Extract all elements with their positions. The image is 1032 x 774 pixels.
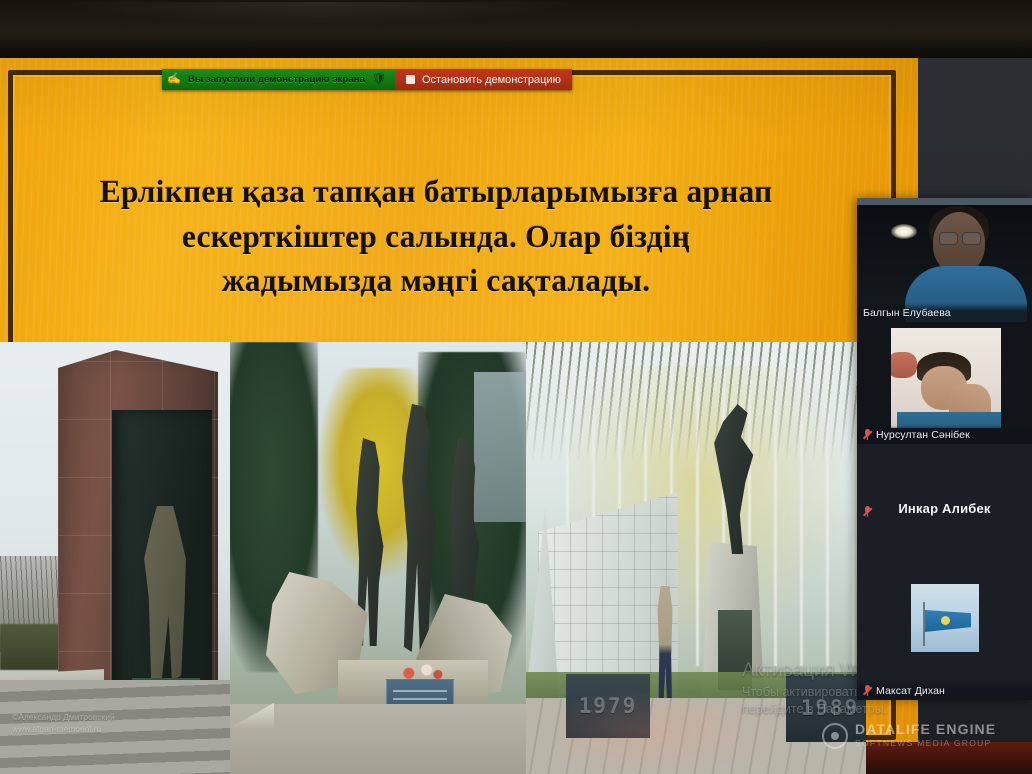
participant-name-bar-2: Нурсултан Сәнібек (857, 425, 1032, 444)
dle-tagline: SOFTNEWS MEDIA GROUP (855, 737, 996, 750)
glasses-icon (939, 232, 981, 243)
tile2-video (891, 328, 1001, 428)
mic-muted-icon (863, 429, 872, 441)
photo3-stele-left: 1979 (566, 674, 650, 738)
slide-photo-strip: ©Александр Дмитровский www.afgan-memoria… (0, 342, 866, 774)
photo1-credit-line-1: ©Александр Дмитровский (12, 711, 230, 724)
dle-text: DATALIFE ENGINE SOFTNEWS MEDIA GROUP (855, 722, 996, 749)
tile2-background-hand (891, 352, 917, 378)
photo-soldier-statue-in-granite-arch: ©Александр Дмитровский www.afgan-memoria… (0, 342, 230, 774)
screenshot-root: Ерлікпен қаза тапқан батырларымызға арна… (0, 0, 1032, 774)
participant-tile-1[interactable]: Балгын Елубаева (857, 198, 1032, 322)
tile1-top-strip (857, 198, 1032, 205)
participants-panel: Балгын Елубаева Нурсултан Сәнібек Инкар … (857, 198, 1032, 700)
shield-icon[interactable]: 🛡 (373, 73, 385, 86)
stop-sharing-label: Остановить демонстрацию (422, 74, 561, 86)
participant-name-3: Инкар Алибек (898, 501, 990, 516)
tile1-ceiling-lamp (891, 224, 917, 239)
participant-tile-4[interactable]: Максат Дихан (857, 572, 1032, 700)
participant-name-bar-4: Максат Дихан (857, 681, 1032, 700)
photo-three-bronze-soldiers-monument (230, 342, 526, 774)
participant-tile-2[interactable]: Нурсултан Сәнібек (857, 322, 1032, 444)
photo1-credit-line-2: www.afgan-memorial.ru (12, 723, 230, 736)
participant-name-4: Максат Дихан (876, 685, 945, 697)
slide-heading-line-3: жадымызда мәңгі сақталады. (26, 259, 846, 304)
photo2-pavement (230, 704, 526, 774)
screen-share-icon: ✍ (168, 73, 180, 86)
stop-square-icon (406, 75, 415, 84)
slide-heading-line-1: Ерлікпен қаза тапқан батырларымызға арна… (26, 170, 846, 215)
screen-share-toolbar[interactable]: ✍ Вы запустили демонстрацию экрана 🛡 Ост… (162, 69, 572, 90)
flag-pole-icon (923, 602, 925, 646)
flag-sun-icon (941, 616, 950, 625)
share-status-chip[interactable]: ✍ Вы запустили демонстрацию экрана 🛡 (162, 69, 395, 90)
mic-muted-icon (863, 685, 872, 697)
participant-tile-3[interactable]: Инкар Алибек (857, 444, 1032, 572)
kazakhstan-flag-avatar (911, 584, 979, 652)
dle-ring-icon (822, 723, 848, 749)
share-status-label: Вы запустили демонстрацию экрана (188, 74, 365, 85)
participant-name-1: Балгын Елубаева (863, 307, 951, 319)
photo3-willow-branches (526, 342, 866, 462)
slide-heading-line-2: ескерткіштер салында. Олар біздің (26, 215, 846, 260)
datalife-engine-watermark: DATALIFE ENGINE SOFTNEWS MEDIA GROUP (822, 722, 996, 749)
monitor-bezel-top (0, 0, 1032, 58)
photo1-credit: ©Александр Дмитровский www.afgan-memoria… (0, 711, 230, 737)
photo3-stele-left-year: 1979 (579, 694, 638, 718)
mic-muted-icon (863, 506, 872, 518)
participant-name-2: Нурсултан Сәнібек (876, 429, 970, 441)
projected-slide: Ерлікпен қаза тапқан батырларымызға арна… (0, 58, 918, 758)
dle-brand: DATALIFE ENGINE (855, 722, 996, 737)
participant-name-bar-1: Балгын Елубаева (857, 303, 1032, 322)
stop-sharing-button[interactable]: Остановить демонстрацию (395, 69, 572, 90)
photo2-background-building (474, 372, 526, 522)
bezel-glare (60, 2, 580, 24)
slide-heading: Ерлікпен қаза тапқан батырларымызға арна… (26, 170, 846, 304)
